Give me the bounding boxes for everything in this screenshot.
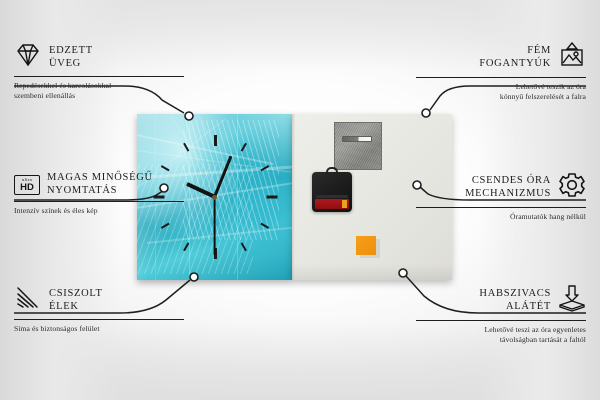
callout-head: CSISZOLT ÉLEK (14, 285, 189, 316)
callout-desc-line1: Intenzív színek és éles kép (14, 206, 189, 216)
callout-title-line2: ÜVEG (49, 58, 93, 71)
callout-rule (14, 76, 184, 77)
callout-title-line2: ÉLEK (49, 301, 103, 314)
callout-rule (14, 319, 184, 320)
callout-desc-line1: Lehetővé teszik az óra (411, 82, 586, 92)
polished-edge-lines-icon (14, 285, 42, 316)
metal-hanger-plate (334, 122, 382, 170)
callout-rule (416, 320, 586, 321)
clock-second-hand (214, 197, 216, 255)
callout-rule (14, 201, 184, 202)
callout-polished-edges[interactable]: CSISZOLT ÉLEK Sima és biztonságos felüle… (14, 285, 189, 334)
battery (315, 199, 349, 209)
callout-title-line1: FÉM (479, 45, 551, 58)
callout-title-line1: MAGAS MINŐSÉGŰ (47, 172, 153, 185)
callout-rule (416, 207, 586, 208)
clock-center-pin (212, 195, 217, 200)
callout-head: ultra HD MAGAS MINŐSÉGŰ NYOMTATÁS (14, 172, 189, 198)
callout-title-line2: MECHANIZMUS (465, 188, 551, 201)
clock-tick (214, 135, 217, 146)
callout-desc-line1: Óramutatók hang nélkül (411, 212, 586, 222)
callout-desc-line2: távolságban tartását a faltól (411, 335, 586, 345)
callout-metal-handles[interactable]: FÉM FOGANTYÚK Lehetővé teszik az óra kön… (411, 42, 586, 102)
ultra-hd-badge-icon: ultra HD (14, 175, 40, 195)
callout-desc-line2: szembeni ellenállás (14, 91, 189, 101)
callout-rule (416, 77, 586, 78)
callout-head: FÉM FOGANTYÚK (411, 42, 586, 74)
callout-desc-line2: könnyű felszerelését a falra (411, 92, 586, 102)
diamond-icon (14, 42, 42, 73)
infographic-canvas: EDZETT ÜVEG Repedésekkel és karcolásokka… (0, 0, 600, 400)
gear-icon (558, 172, 586, 204)
press-down-layers-icon (558, 285, 586, 317)
callout-foam-pad[interactable]: HABSZIVACS ALÁTÉT Lehetővé teszi az óra … (411, 285, 586, 345)
badge-main-text: HD (20, 183, 34, 193)
callout-title-line1: CSISZOLT (49, 288, 103, 301)
callout-head: EDZETT ÜVEG (14, 42, 189, 73)
hanging-picture-frame-icon (558, 42, 586, 74)
callout-title-line2: FOGANTYÚK (479, 58, 551, 71)
callout-title-line1: EDZETT (49, 45, 93, 58)
foam-pad (356, 236, 376, 255)
callout-head: HABSZIVACS ALÁTÉT (411, 285, 586, 317)
callout-head: CSENDES ÓRA MECHANIZMUS (411, 172, 586, 204)
callout-desc-line1: Sima és biztonságos felület (14, 324, 189, 334)
callout-title-line2: ALÁTÉT (479, 301, 551, 314)
callout-desc-line1: Repedésekkel és karcolásokkal (14, 81, 189, 91)
callout-desc-line1: Lehetővé teszi az óra egyenletes (411, 325, 586, 335)
callout-title-line1: CSENDES ÓRA (465, 175, 551, 188)
callout-title-line1: HABSZIVACS (479, 288, 551, 301)
callout-tempered-glass[interactable]: EDZETT ÜVEG Repedésekkel és karcolásokka… (14, 42, 189, 101)
callout-high-quality-print[interactable]: ultra HD MAGAS MINŐSÉGŰ NYOMTATÁS Intenz… (14, 172, 189, 216)
callout-quiet-mechanism[interactable]: CSENDES ÓRA MECHANIZMUS Óramutatók hang … (411, 172, 586, 222)
clock-mechanism (312, 172, 352, 212)
clock-tick (266, 196, 277, 199)
callout-title-line2: NYOMTATÁS (47, 185, 153, 198)
